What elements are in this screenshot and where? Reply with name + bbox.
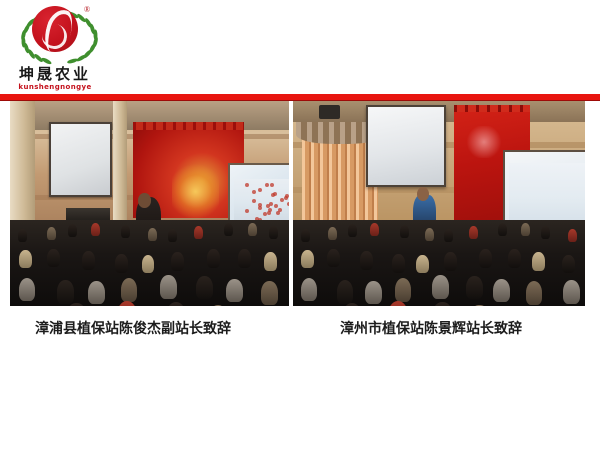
- audience-head: [91, 223, 100, 236]
- audience-head: [498, 223, 507, 236]
- projection-speckle: [287, 202, 289, 206]
- banner-top-trim: [454, 105, 530, 112]
- audience-head: [57, 280, 74, 304]
- audience-head: [121, 278, 138, 302]
- audience-head: [47, 227, 56, 240]
- audience-head: [466, 276, 483, 300]
- audience-area: [10, 220, 289, 306]
- audience-head: [395, 278, 412, 302]
- audience-head: [388, 301, 408, 306]
- slide-footer: 坤晟农业 kunshengnongye 专注农业 服务农民: [0, 400, 600, 450]
- audience-head: [168, 229, 177, 242]
- audience-head: [348, 224, 357, 237]
- projection-speckle: [245, 183, 249, 187]
- audience-head: [328, 227, 337, 240]
- kunsheng-logo-icon: ®: [6, 4, 102, 66]
- audience-head: [207, 249, 220, 267]
- audience-head: [469, 226, 478, 239]
- audience-head: [541, 226, 550, 239]
- audience-head: [563, 280, 580, 304]
- audience-head: [432, 302, 452, 306]
- projection-speckle: [252, 199, 256, 203]
- projection-speckle: [258, 188, 262, 192]
- audience-head: [370, 223, 379, 236]
- wall-loudspeaker: [319, 105, 339, 119]
- audience-head: [261, 281, 278, 305]
- audience-head: [444, 229, 453, 242]
- speaker-head: [138, 193, 151, 207]
- audience-head: [337, 280, 354, 304]
- projection-screen: [366, 105, 446, 187]
- projection-speckle: [252, 190, 256, 194]
- audience-head: [469, 305, 489, 306]
- projection-speckle: [263, 212, 267, 216]
- audience-head: [248, 223, 257, 236]
- photo-left: [10, 101, 289, 306]
- audience-head: [493, 279, 510, 303]
- audience-head: [301, 250, 314, 268]
- audience-head: [269, 226, 278, 239]
- brand-name-en: kunshengnongye: [6, 83, 104, 91]
- audience-head: [562, 255, 575, 273]
- audience-head: [19, 278, 36, 302]
- projection-speckle: [265, 183, 269, 187]
- banner-graphic: [465, 126, 503, 159]
- slide-header: ® 坤晟农业 kunshengnongye: [0, 0, 600, 94]
- photo-right: [293, 101, 585, 306]
- audience-head: [301, 278, 318, 302]
- registered-mark-icon: ®: [84, 5, 90, 14]
- audience-head: [416, 255, 429, 273]
- projection-speckle: [270, 183, 274, 187]
- audience-head: [224, 223, 233, 236]
- projection-speckle: [267, 211, 271, 215]
- audience-head: [208, 305, 228, 306]
- projection-speckle: [278, 208, 282, 212]
- audience-head: [425, 228, 434, 241]
- audience-head: [301, 229, 310, 242]
- projection-content: [509, 163, 585, 228]
- audience-head: [392, 254, 405, 272]
- audience-head: [226, 279, 243, 303]
- audience-head: [432, 275, 449, 299]
- projection-speckle: [271, 193, 275, 197]
- audience-head: [360, 251, 373, 269]
- audience-area: [293, 220, 585, 306]
- photo-right-scene: [293, 101, 585, 306]
- audience-head: [166, 302, 186, 306]
- audience-head: [526, 281, 543, 305]
- audience-head: [238, 249, 251, 267]
- banner-glow: [172, 163, 219, 220]
- audience-head: [196, 276, 213, 300]
- projection-speckle: [266, 204, 270, 208]
- audience-head: [444, 252, 457, 270]
- projection-speckle: [285, 194, 289, 198]
- audience-head: [148, 228, 157, 241]
- wall-screen: [49, 122, 112, 198]
- audience-head: [365, 281, 382, 305]
- photo-left-scene: [10, 101, 289, 306]
- audience-head: [327, 249, 340, 267]
- audience-head: [19, 250, 32, 268]
- caption-left: 漳浦县植保站陈俊杰副站长致辞: [35, 318, 231, 340]
- audience-head: [88, 281, 105, 305]
- audience-head: [532, 252, 545, 270]
- audience-head: [18, 229, 27, 242]
- projection-speckle: [280, 198, 284, 202]
- projection-speckle: [274, 204, 278, 208]
- audience-head: [400, 225, 409, 238]
- audience-head: [142, 255, 155, 273]
- audience-head: [508, 249, 521, 267]
- slide-canvas: ® 坤晟农业 kunshengnongye: [0, 0, 600, 450]
- audience-head: [47, 249, 60, 267]
- audience-head: [117, 301, 137, 306]
- audience-head: [115, 254, 128, 272]
- wreath-leaf-icon: [67, 58, 79, 64]
- pillar: [10, 101, 35, 228]
- pillar: [113, 101, 127, 228]
- brand-logo: ® 坤晟农业 kunshengnongye: [6, 4, 104, 92]
- projection-speckle: [245, 209, 249, 213]
- audience-head: [160, 275, 177, 299]
- audience-head: [121, 225, 130, 238]
- audience-head: [521, 223, 530, 236]
- audience-head: [194, 226, 203, 239]
- brand-name-cn: 坤晟农业: [6, 66, 104, 82]
- audience-head: [171, 252, 184, 270]
- banner-top-trim: [133, 122, 245, 130]
- audience-head: [82, 251, 95, 269]
- audience-head: [264, 252, 277, 270]
- caption-right: 漳州市植保站陈景辉站长致辞: [340, 318, 522, 340]
- audience-head: [68, 224, 77, 237]
- projection-content: [234, 179, 289, 226]
- audience-head: [479, 249, 492, 267]
- audience-head: [568, 229, 577, 242]
